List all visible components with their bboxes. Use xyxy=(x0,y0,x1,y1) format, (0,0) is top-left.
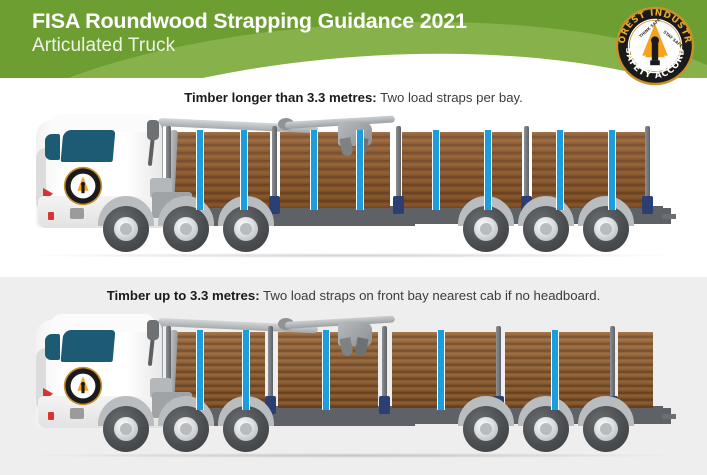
cab-side-window xyxy=(45,134,60,160)
hub xyxy=(240,423,252,435)
load-strap-2 xyxy=(240,130,248,210)
caption-long-timber: Timber longer than 3.3 metres: Two load … xyxy=(0,90,707,105)
hub xyxy=(480,223,492,235)
trailer-hitch xyxy=(662,214,676,219)
load-strap-5 xyxy=(432,130,440,210)
cab-step-panel xyxy=(70,208,84,219)
caption-lead: Timber up to 3.3 metres: xyxy=(107,288,260,303)
wheel-3 xyxy=(223,406,269,452)
caption-short-timber: Timber up to 3.3 metres: Two load straps… xyxy=(0,288,707,303)
poster-subtitle: Articulated Truck xyxy=(32,35,175,57)
truck-illustration-short-timber xyxy=(0,308,707,468)
wheel-5 xyxy=(523,206,569,252)
load-strap-front-1 xyxy=(196,330,204,410)
log-bay-3 xyxy=(402,132,522,208)
stanchion-base-5 xyxy=(642,196,653,214)
wheel-3 xyxy=(223,206,269,252)
log-bay-5 xyxy=(618,332,653,408)
load-strap-6 xyxy=(484,130,492,210)
hub xyxy=(540,423,552,435)
hub xyxy=(120,223,132,235)
wheel-6 xyxy=(583,406,629,452)
load-strap-3 xyxy=(310,130,318,210)
wheel-2 xyxy=(163,406,209,452)
cab-windscreen xyxy=(61,130,116,162)
hub xyxy=(600,223,612,235)
hub xyxy=(180,423,192,435)
stanchion-base-3 xyxy=(379,396,390,414)
caption-rest: Two load straps on front bay nearest cab… xyxy=(260,288,601,303)
cab-fisa-badge-icon xyxy=(63,366,103,406)
wheel-6 xyxy=(583,206,629,252)
cab-step-panel xyxy=(70,408,84,419)
poster-title: FISA Roundwood Strapping Guidance 2021 xyxy=(32,9,467,34)
load-strap-bay2 xyxy=(322,330,330,410)
hub xyxy=(600,423,612,435)
load-strap-front-2 xyxy=(242,330,250,410)
wheel-4 xyxy=(463,406,509,452)
load-strap-7 xyxy=(556,130,564,210)
truck-illustration-long-timber xyxy=(0,108,707,268)
load-strap-4 xyxy=(356,130,364,210)
caption-rest: Two load straps per bay. xyxy=(377,90,523,105)
strapping-guidance-poster: FISA Roundwood Strapping Guidance 2021 A… xyxy=(0,0,707,475)
cab-mirror xyxy=(147,320,159,340)
load-strap-1 xyxy=(196,130,204,210)
stanchion-base-3 xyxy=(393,196,404,214)
load-strap-bay3 xyxy=(437,330,445,410)
log-bay-2 xyxy=(280,132,390,208)
hub xyxy=(240,223,252,235)
load-strap-8 xyxy=(608,130,616,210)
fisa-safety-accord-badge-icon: FOREST INDUSTRY SAFETY ACCORD THINK SAFE… xyxy=(615,6,695,86)
cab-marker-light xyxy=(48,412,54,420)
wheel-2 xyxy=(163,206,209,252)
ground-shadow xyxy=(28,453,678,458)
cab-windscreen xyxy=(61,330,116,362)
hub xyxy=(180,223,192,235)
caption-lead: Timber longer than 3.3 metres: xyxy=(184,90,377,105)
cab-fisa-badge-icon xyxy=(63,166,103,206)
trailer-hitch xyxy=(662,414,676,419)
hub xyxy=(480,423,492,435)
ground-shadow xyxy=(28,253,678,258)
wheel-1 xyxy=(103,206,149,252)
cab-mirror xyxy=(147,120,159,140)
hub xyxy=(540,223,552,235)
cab-side-window xyxy=(45,334,60,360)
wheel-4 xyxy=(463,206,509,252)
wheel-1 xyxy=(103,406,149,452)
hub xyxy=(120,423,132,435)
cab-marker-light xyxy=(48,212,54,220)
wheel-5 xyxy=(523,406,569,452)
load-strap-bay4 xyxy=(551,330,559,410)
